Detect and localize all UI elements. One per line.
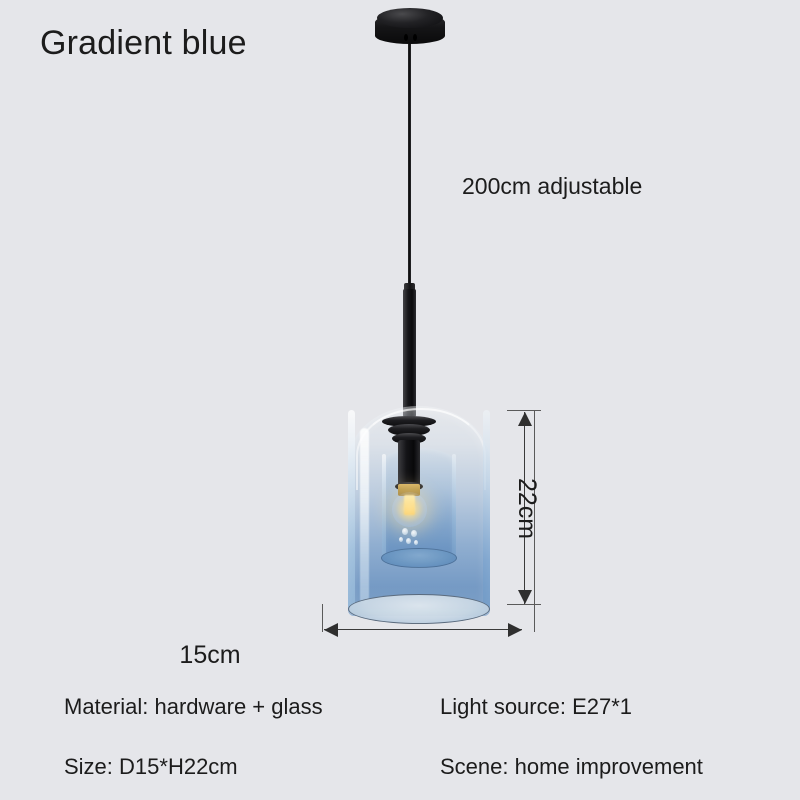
glass-droplet [402, 528, 408, 535]
width-dimension-value: 15cm [179, 641, 240, 669]
bulb-filament [404, 495, 415, 515]
bulb-socket [398, 440, 420, 488]
glass-droplet [414, 540, 418, 545]
outer-glass-edge-left [348, 410, 355, 610]
spec-scene: Scene: home improvement [440, 754, 703, 780]
lamp-holder [380, 416, 438, 494]
width-extension-left [322, 604, 323, 632]
height-extension-bottom [507, 604, 541, 605]
canopy-hole-left [404, 34, 408, 41]
inner-glass-bottom-rim [381, 548, 457, 568]
canopy-hole-right [413, 34, 417, 41]
height-dimension-label: 22cm [512, 478, 541, 539]
inner-glass-edge-right [452, 454, 456, 558]
arrow-left-icon [324, 623, 338, 637]
spec-light-source: Light source: E27*1 [440, 694, 632, 720]
outer-glass-highlight [360, 428, 369, 604]
outer-glass-edge-right [483, 410, 490, 610]
outer-glass-bottom-rim [348, 594, 490, 624]
width-extension-right [534, 604, 535, 632]
hanging-cord [408, 44, 411, 289]
page-title: Gradient blue [40, 24, 247, 63]
arrow-right-icon [508, 623, 522, 637]
arrow-down-icon [518, 590, 532, 604]
product-image-canvas: Gradient blue 200cm adjustable [0, 0, 800, 800]
height-extension-top [507, 410, 541, 411]
arrow-up-icon [518, 412, 532, 426]
canopy-top-face [377, 8, 443, 28]
spec-material: Material: hardware + glass [64, 694, 323, 720]
glass-droplet [399, 537, 403, 542]
cord-length-label: 200cm adjustable [462, 173, 642, 200]
glass-droplet [406, 538, 411, 544]
ceiling-canopy-icon [375, 8, 445, 48]
glass-droplet [411, 530, 417, 537]
width-dimension-label: 15cm [0, 641, 800, 670]
width-dimension-line [324, 629, 522, 630]
spec-size: Size: D15*H22cm [64, 754, 238, 780]
